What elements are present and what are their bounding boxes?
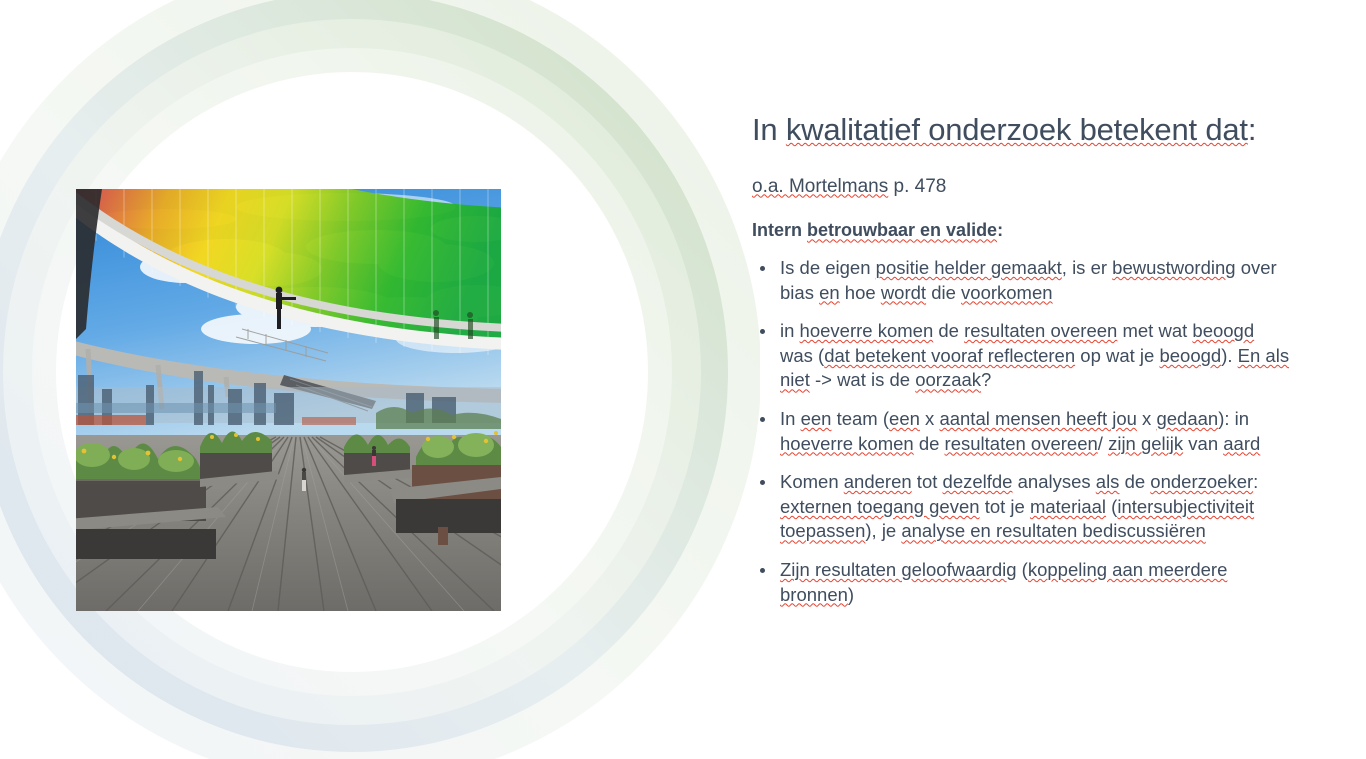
slide-image (76, 189, 501, 611)
list-item-text: in hoeverre komen de resultaten overeen … (780, 320, 1289, 390)
planter-mid (200, 431, 282, 487)
aros-rainbow-panorama-illustration (76, 189, 501, 611)
bullet-dot-icon (760, 266, 765, 271)
list-item: Komen anderen tot dezelfde analyses als … (752, 470, 1292, 544)
list-item-text: Komen anderen tot dezelfde analyses als … (780, 471, 1258, 541)
slide-title: In kwalitatief onderzoek betekent dat: (752, 112, 1292, 148)
list-item: Zijn resultaten geloofwaardig (koppeling… (752, 558, 1292, 607)
slide-text-content: In kwalitatief onderzoek betekent dat: o… (752, 112, 1292, 607)
person-walking (302, 468, 306, 491)
list-item: Is de eigen positie helder gemaakt, is e… (752, 256, 1292, 305)
list-item: in hoeverre komen de resultaten overeen … (752, 319, 1292, 393)
list-item-text: Zijn resultaten geloofwaardig (koppeling… (780, 559, 1227, 605)
list-item-text: Is de eigen positie helder gemaakt, is e… (780, 257, 1277, 303)
bullet-dot-icon (760, 417, 765, 422)
section-subheading: Intern betrouwbaar en valide: (752, 220, 1292, 242)
presentation-slide: In kwalitatief onderzoek betekent dat: o… (0, 0, 1366, 759)
bullet-dot-icon (760, 568, 765, 573)
bullet-dot-icon (760, 480, 765, 485)
list-item: In een team (een x aantal mensen heeft j… (752, 407, 1292, 456)
bullet-dot-icon (760, 329, 765, 334)
bullet-list: Is de eigen positie helder gemaakt, is e… (752, 256, 1292, 607)
list-item-text: In een team (een x aantal mensen heeft j… (780, 408, 1260, 454)
source-reference: o.a. Mortelmans p. 478 (752, 176, 1292, 199)
person-pink (372, 446, 376, 466)
